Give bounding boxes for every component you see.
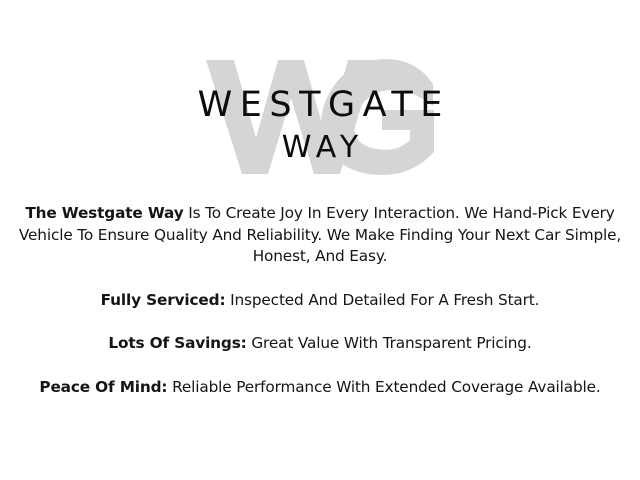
feature-rest: Great Value With Transparent Pricing. — [247, 334, 532, 352]
logo-primary-wordmark: WESTGATE — [0, 88, 640, 123]
feature-lead: Peace Of Mind: — [39, 378, 167, 396]
intro-paragraph: The Westgate Way Is To Create Joy In Eve… — [14, 185, 626, 268]
brand-logo-text: WESTGATE WAY — [0, 0, 640, 185]
feature-lead: Fully Serviced: — [101, 291, 226, 309]
brand-logo-block: WESTGATE WAY — [0, 0, 640, 185]
feature-fully-serviced: Fully Serviced: Inspected And Detailed F… — [14, 268, 626, 312]
logo-secondary-wordmark: WAY — [0, 133, 640, 163]
feature-rest: Reliable Performance With Extended Cover… — [167, 378, 600, 396]
intro-lead: The Westgate Way — [25, 204, 183, 222]
dealer-value-proposition-card: WESTGATE WAY The Westgate Way Is To Crea… — [0, 0, 640, 480]
feature-peace-of-mind: Peace Of Mind: Reliable Performance With… — [14, 355, 626, 399]
feature-rest: Inspected And Detailed For A Fresh Start… — [225, 291, 539, 309]
feature-lead: Lots Of Savings: — [108, 334, 246, 352]
feature-lots-of-savings: Lots Of Savings: Great Value With Transp… — [14, 311, 626, 355]
value-proposition-copy: The Westgate Way Is To Create Joy In Eve… — [0, 185, 640, 398]
